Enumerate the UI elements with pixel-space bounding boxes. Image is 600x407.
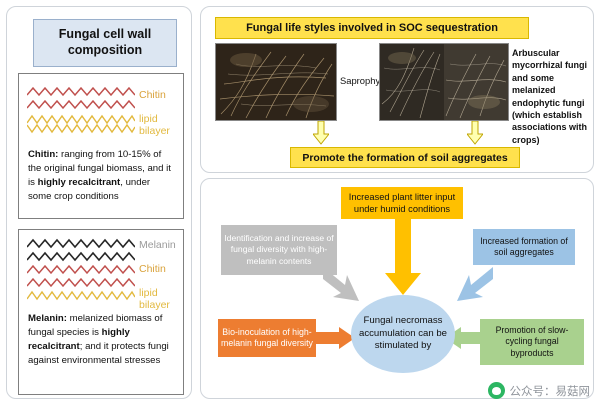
chitin-diagram: Chitin lipid bilayer [27, 81, 175, 137]
fungal-cell-wall-panel: Fungal cell wall composition Chitin lipi… [6, 6, 192, 399]
arrow-down-right-icon [467, 121, 483, 145]
saprophytes-photo [215, 43, 337, 121]
melanin-diagram: Melanin Chitin lipid bilayer [27, 237, 175, 303]
box-identification-fungal-diversity: Identification and increase of fungal di… [221, 225, 337, 275]
lipid-bilayer-icon-2 [27, 122, 135, 135]
mycorrhizal-fungi-photo [379, 43, 509, 121]
melanin-zigzag-icon [27, 237, 135, 250]
arrow-grey-diagonal-icon [323, 263, 367, 311]
chitin-card: Chitin lipid bilayer Chitin: ranging fro… [18, 73, 184, 219]
lipid-bilayer-label-2: lipid bilayer [139, 287, 175, 311]
mycorrhizal-caption-text: Arbuscular mycorrhizal fungi and some me… [512, 48, 587, 145]
fungal-life-styles-panel: Fungal life styles involved in SOC seque… [200, 6, 594, 173]
mushroom-icon [488, 382, 505, 399]
promote-aggregates-box: Promote the formation of soil aggregates [290, 147, 520, 168]
box-increased-soil-aggregates: Increased formation of soil aggregates [473, 229, 575, 265]
chitin-label: Chitin [139, 89, 166, 101]
chitin-zigzag-icon-4 [27, 276, 135, 289]
lipid-bilayer-label: lipid bilayer [139, 113, 175, 137]
watermark-text: 公众号：易菇网 [510, 383, 591, 399]
arrow-down-left-icon [313, 121, 329, 145]
necromass-accumulation-panel: Increased plant litter input under humid… [200, 178, 594, 399]
lipid-bilayer-icon-3 [27, 289, 135, 302]
life-styles-title: Fungal life styles involved in SOC seque… [215, 17, 529, 39]
saprophytes-caption: Saprophytes [340, 75, 380, 86]
chitin-zigzag-icon-3 [27, 263, 135, 276]
melanin-label: Melanin [139, 239, 176, 251]
mycorrhizal-caption: Arbuscular mycorrhizal fungi and some me… [512, 47, 590, 146]
arrow-blue-diagonal-icon [447, 263, 493, 311]
chitin-label-2: Chitin [139, 263, 166, 275]
melanin-description: Melanin: melanized biomass of fungal spe… [28, 312, 174, 368]
arrow-down-gold-icon [383, 217, 423, 297]
melanin-card: Melanin Chitin lipid bilayer Melanin: me… [18, 229, 184, 395]
melanin-zigzag-icon-2 [27, 250, 135, 263]
chitin-zigzag-icon [27, 85, 135, 98]
central-oval-label: Fungal necromass accumulation can be sti… [351, 295, 455, 373]
page-title: Fungal cell wall composition [33, 19, 177, 67]
chitin-zigzag-icon-2 [27, 98, 135, 111]
box-bioinoculation: Bio-inoculation of high-melanin fungal d… [218, 319, 316, 357]
box-promotion-slow-cycling: Promotion of slow-cycling fungal byprodu… [480, 319, 584, 365]
chitin-description: Chitin: ranging from 10-15% of the origi… [28, 148, 174, 204]
watermark: 公众号：易菇网 [488, 382, 591, 399]
arrow-right-orange-icon [315, 327, 355, 349]
box-increased-litter-input: Increased plant litter input under humid… [341, 187, 463, 219]
